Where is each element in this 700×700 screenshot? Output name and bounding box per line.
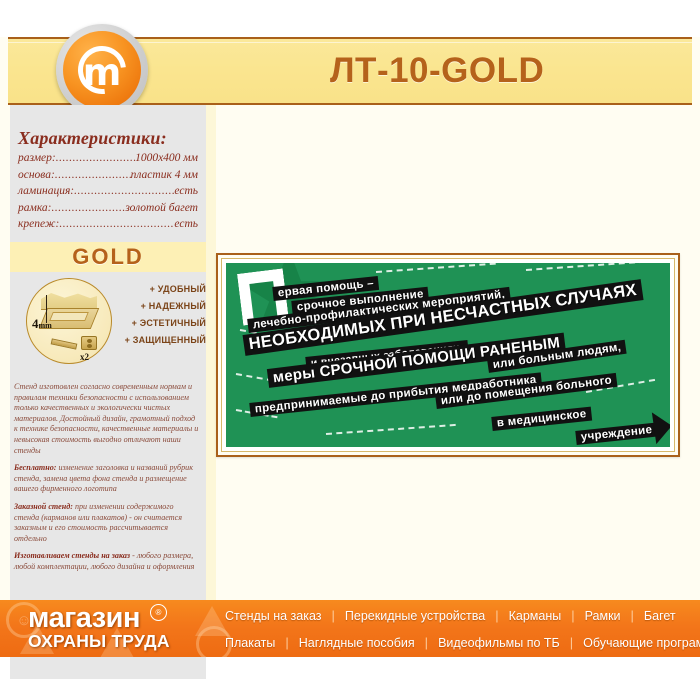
nav-separator: | [495, 608, 498, 623]
nav-link-obuchayushchie-programmy[interactable]: Обучающие программы [573, 636, 700, 650]
feature-item: + НАДЕЖНЫЙ [112, 301, 206, 311]
sidebar-bottom-stub [10, 657, 206, 679]
poster-frame[interactable]: ервая помощь – срочное выполнение лечебн… [216, 253, 680, 457]
brand-logo[interactable]: магазин ОХРАНЫ ТРУДА [28, 605, 203, 653]
spec-value: пластик 4 мм [131, 169, 198, 181]
nav-link-ramki[interactable]: Рамки [575, 609, 631, 623]
spec-key: рамка: [18, 202, 52, 214]
sidebar-description: Стенд изготовлен согласно современным но… [14, 382, 200, 580]
nav-link-stendy-na-zakaz[interactable]: Стенды на заказ [215, 609, 332, 623]
spec-dots: ........................ [55, 169, 131, 181]
nav-separator: | [571, 608, 574, 623]
frame-inner-shape [49, 312, 89, 321]
dash-line [326, 424, 456, 435]
mount-bracket-icon [81, 336, 97, 350]
characteristics-row: рамка: ...................... золотой ба… [18, 202, 198, 214]
feature-item: + УДОБНЫЙ [112, 284, 206, 294]
features-list: + УДОБНЫЙ + НАДЕЖНЫЙ + ЭСТЕТИЧНЫЙ + ЗАЩИ… [112, 284, 206, 352]
registered-mark-icon: ® [150, 604, 167, 621]
spec-value: есть [174, 185, 198, 197]
footer-nav-row-1: Стенды на заказ | Перекидные устройства … [215, 608, 686, 623]
characteristics-row: размер: ........................ 1000х40… [18, 152, 198, 164]
magazin-logo-icon[interactable]: m [56, 24, 148, 116]
description-paragraph: Бесплатно: изменение заголовка и названи… [14, 463, 200, 495]
poster-line: в медицинское [491, 407, 592, 431]
fastener-count-label: x2 [80, 352, 89, 362]
gold-label: GOLD [72, 244, 144, 270]
spec-value: есть [174, 218, 198, 230]
nav-link-plakaty[interactable]: Плакаты [215, 636, 285, 650]
spec-dots: ........................ [56, 152, 135, 164]
poster-line: учреждение [575, 423, 658, 445]
nav-link-videofilmy-po-tb[interactable]: Видеофильмы по ТБ [428, 636, 570, 650]
arrow-icon [652, 410, 670, 444]
spec-dots: ................................ [74, 185, 174, 197]
dash-line [376, 263, 496, 273]
spec-key: ламинация: [18, 185, 74, 197]
nav-separator: | [332, 608, 335, 623]
spec-dots: ...................... [52, 202, 126, 214]
logo-core: m [63, 31, 141, 109]
nav-separator: | [285, 635, 288, 650]
feature-item: + ЗАЩИЩЕННЫЙ [112, 335, 206, 345]
description-paragraph: Стенд изготовлен согласно современным но… [14, 382, 200, 456]
spec-value: золотой багет [125, 202, 198, 214]
feature-item: + ЭСТЕТИЧНЫЙ [112, 318, 206, 328]
description-paragraph: Заказной стенд: при изменении содержимог… [14, 502, 200, 544]
logo-letter: m [63, 31, 141, 109]
poster-board: ервая помощь – срочное выполнение лечебн… [226, 263, 670, 447]
nav-separator: | [425, 635, 428, 650]
brand-line-2: ОХРАНЫ ТРУДА [28, 632, 203, 651]
characteristics-row: крепеж: ................................… [18, 218, 198, 230]
gold-label-strip: GOLD [10, 242, 206, 272]
thickness-label: 4mm [32, 316, 52, 332]
page-title: ЛТ-10-GOLD [330, 44, 680, 98]
description-paragraph: Изготавливаем стенды на заказ - любого р… [14, 551, 200, 572]
nav-separator: | [570, 635, 573, 650]
footer-nav-row-2: Плакаты | Наглядные пособия | Видеофильм… [215, 635, 700, 650]
spec-value: 1000х400 мм [135, 152, 198, 164]
characteristics-row: ламинация: .............................… [18, 185, 198, 197]
sidebar-yellow-strip [206, 105, 216, 600]
spec-key: основа: [18, 169, 55, 181]
characteristics-row: основа: ........................ пластик… [18, 169, 198, 181]
nav-link-naglyadnye-posobiya[interactable]: Наглядные пособия [289, 636, 425, 650]
page-root: ЛТ-10-GOLD m Характеристики: размер: ...… [0, 0, 700, 700]
nav-separator: | [631, 608, 634, 623]
spec-key: крепеж: [18, 218, 59, 230]
characteristics-list: размер: ........................ 1000х40… [18, 152, 198, 235]
nav-link-perekidnye-ustroystva[interactable]: Перекидные устройства [335, 609, 495, 623]
brand-line-1: магазин [28, 605, 203, 632]
dash-line [526, 263, 656, 271]
spec-dots: ...................................... [59, 218, 174, 230]
characteristics-title: Характеристики: [18, 128, 167, 149]
screw-icon [51, 338, 78, 349]
nav-link-karmany[interactable]: Карманы [499, 609, 572, 623]
nav-link-baget[interactable]: Багет [634, 609, 686, 623]
spec-key: размер: [18, 152, 56, 164]
